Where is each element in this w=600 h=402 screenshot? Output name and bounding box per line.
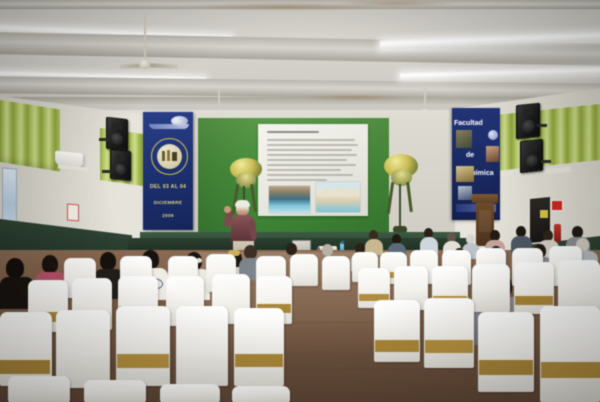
exit-sign bbox=[551, 200, 563, 211]
covered-chair bbox=[424, 298, 474, 368]
banner-line3: 2009 bbox=[143, 213, 193, 218]
covered-chair bbox=[540, 306, 600, 402]
slide-photo-cave bbox=[269, 186, 310, 213]
slide-photo-beach bbox=[316, 182, 360, 212]
covered-chair bbox=[8, 376, 70, 402]
covered-chair bbox=[0, 312, 52, 386]
faculty-banner-photo bbox=[456, 166, 474, 182]
wall-notice-sign bbox=[67, 203, 79, 221]
wall-speaker bbox=[110, 149, 131, 181]
slide-photo-beach-umbrella bbox=[322, 190, 331, 193]
gold-chair-sash bbox=[515, 296, 553, 305]
speaker-bracket bbox=[541, 160, 551, 163]
wall-speaker bbox=[520, 139, 543, 173]
gold-chair-sash bbox=[375, 340, 419, 352]
presenter-hand bbox=[224, 206, 231, 213]
slide-heading bbox=[267, 131, 319, 133]
gold-chair-sash bbox=[479, 360, 533, 375]
gold-chair-sash bbox=[235, 354, 283, 367]
covered-chair bbox=[234, 308, 284, 386]
covered-chair bbox=[472, 264, 510, 312]
left-event-banner: DEL 03 AL 04 DICIEMBRE 2009 bbox=[143, 112, 193, 230]
floral-arrangement bbox=[382, 154, 420, 236]
gold-chair-sash bbox=[0, 360, 50, 374]
covered-chair bbox=[478, 312, 534, 392]
audience-head bbox=[42, 255, 58, 273]
gold-chair-sash bbox=[541, 362, 600, 378]
covered-chair bbox=[322, 256, 350, 290]
speaker-bracket bbox=[537, 124, 547, 127]
audience-head bbox=[6, 258, 24, 278]
gold-chair-sash bbox=[117, 354, 169, 368]
covered-chair bbox=[232, 386, 290, 402]
ceiling-stain bbox=[330, 0, 460, 7]
covered-chair bbox=[160, 384, 220, 402]
slide-photo-beach-umbrella bbox=[336, 189, 346, 192]
gold-chair-sash bbox=[425, 340, 473, 353]
projection-screen bbox=[258, 124, 368, 216]
ceiling-fan bbox=[120, 14, 200, 74]
banner-line2: DICIEMBRE bbox=[143, 200, 193, 205]
banner-seal-emblem bbox=[151, 138, 188, 175]
faculty-banner-photo bbox=[486, 146, 499, 162]
covered-chair bbox=[84, 380, 146, 402]
slide-photo-beach-umbrella bbox=[348, 190, 357, 193]
covered-chair bbox=[116, 306, 170, 386]
faculty-banner-line2: de bbox=[466, 152, 486, 159]
audience-head bbox=[244, 245, 257, 259]
covered-chair bbox=[290, 254, 318, 286]
faculty-banner-line1: Facultad bbox=[454, 120, 492, 127]
audience-head bbox=[322, 244, 333, 256]
audience-head bbox=[100, 252, 116, 270]
faculty-banner-photo bbox=[458, 186, 472, 200]
bottle-cap bbox=[341, 241, 344, 244]
auditorium-photo: DEL 03 AL 04 DICIEMBRE 2009 Facultad de … bbox=[0, 0, 600, 402]
banner-line1: DEL 03 AL 04 bbox=[143, 184, 193, 190]
banner-top-swoosh bbox=[149, 124, 189, 129]
presenter-arm bbox=[249, 220, 257, 241]
speaker-bracket bbox=[102, 170, 112, 173]
ceiling-stain bbox=[300, 94, 410, 101]
faculty-banner-photo bbox=[456, 130, 472, 148]
wall-speaker bbox=[106, 117, 128, 151]
safety-sign bbox=[540, 210, 548, 218]
covered-chair bbox=[374, 300, 420, 362]
covered-chair bbox=[176, 306, 228, 386]
presenter-hair bbox=[235, 200, 250, 207]
wall-speaker bbox=[516, 103, 540, 140]
left-curtain bbox=[0, 100, 60, 172]
faculty-banner-logo bbox=[488, 130, 498, 140]
fire-extinguisher bbox=[554, 224, 561, 242]
speaker-bracket bbox=[99, 138, 108, 141]
